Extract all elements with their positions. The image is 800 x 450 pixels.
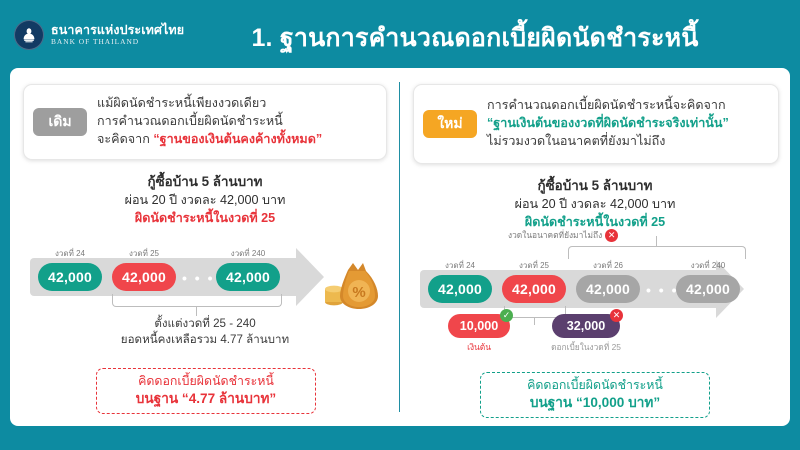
- statement-line-2-emphasis: “ฐานเงินต้นของงวดที่ผิดนัดชำระจริงเท่านั…: [487, 115, 729, 133]
- cross-mark-icon: ✕: [610, 309, 623, 322]
- installment-chip-240: 42,000: [676, 275, 740, 303]
- svg-text:%: %: [352, 284, 365, 301]
- statement-line-1: การคำนวณดอกเบี้ยผิดนัดชำระหนี้จะคิดจาก: [487, 97, 729, 115]
- future-range-brace-stem: [656, 236, 657, 246]
- future-installments-note: งวดในอนาคตที่ยังมาไม่ถึง ✕: [508, 228, 618, 242]
- statement-text-new: การคำนวณดอกเบี้ยผิดนัดชำระหนี้จะคิดจาก “…: [487, 97, 729, 151]
- statement-line-3: จะคิดจาก “ฐานของเงินต้นคงค้างทั้งหมด”: [97, 131, 322, 149]
- statement-line-1: แม้ผิดนัดชำระหนี้เพียงงวดเดียว: [97, 95, 322, 113]
- range-brace-old: [112, 294, 282, 307]
- future-range-brace: [568, 246, 746, 259]
- installment-chip-25: 42,000: [502, 275, 566, 303]
- loan-line-2: ผ่อน 20 ปี งวดละ 42,000 บาท: [10, 191, 400, 209]
- result-line-1: คิดดอกเบี้ยผิดนัดชำระหนี้: [138, 373, 274, 390]
- installment-chip-240: 42,000: [216, 263, 280, 291]
- outstanding-note-old: ตั้งแต่งวดที่ 25 - 240 ยอดหนี้คงเหลือรวม…: [10, 316, 400, 348]
- panel-new-rule: ใหม่ การคำนวณดอกเบี้ยผิดนัดชำระหนี้จะคิด…: [400, 68, 790, 426]
- panel-old-rule: เดิม แม้ผิดนัดชำระหนี้เพียงงวดเดียว การค…: [10, 68, 400, 426]
- loan-line-1: กู้ซื้อบ้าน 5 ล้านบาท: [400, 176, 790, 195]
- default-range-brace-stem: [534, 317, 535, 325]
- loan-line-2: ผ่อน 20 ปี งวดละ 42,000 บาท: [400, 195, 790, 213]
- statement-text-old: แม้ผิดนัดชำระหนี้เพียงงวดเดียว การคำนวณด…: [97, 95, 322, 149]
- installment-chip-24: 42,000: [38, 263, 102, 291]
- loan-summary-old: กู้ซื้อบ้าน 5 ล้านบาท ผ่อน 20 ปี งวดละ 4…: [10, 172, 400, 228]
- range-brace-stem-old: [196, 306, 197, 316]
- installment-label-240: งวดที่ 240: [206, 247, 290, 260]
- installment-label-26: งวดที่ 26: [570, 259, 646, 272]
- statement-box-new: ใหม่ การคำนวณดอกเบี้ยผิดนัดชำระหนี้จะคิด…: [413, 84, 779, 164]
- cross-mark-icon: ✕: [605, 229, 618, 242]
- installment-label-24: งวดที่ 24: [422, 259, 498, 272]
- statement-line-3-emphasis: “ฐานของเงินต้นคงค้างทั้งหมด”: [153, 132, 322, 146]
- installment-chip-24: 42,000: [428, 275, 492, 303]
- page-title: 1. ฐานการคำนวณดอกเบี้ยผิดนัดชำระหนี้: [0, 18, 800, 58]
- installment-label-25: งวดที่ 25: [496, 259, 572, 272]
- installment-label-25: งวดที่ 25: [106, 247, 182, 260]
- installment-label-240: งวดที่ 240: [666, 259, 750, 272]
- statement-line-2: การคำนวณดอกเบี้ยผิดนัดชำระหนี้: [97, 113, 322, 131]
- installment-label-24: งวดที่ 24: [32, 247, 108, 260]
- breakdown-label-interest: ดอกเบี้ยในงวดที่ 25: [530, 340, 642, 354]
- slide-root: ธนาคารแห่งประเทศไทย BANK OF THAILAND 1. …: [0, 0, 800, 450]
- badge-old: เดิม: [33, 108, 87, 136]
- content-card: เดิม แม้ผิดนัดชำระหนี้เพียงงวดเดียว การค…: [10, 68, 790, 426]
- statement-line-3: ไม่รวมงวดในอนาคตที่ยังมาไม่ถึง: [487, 133, 729, 151]
- result-box-old: คิดดอกเบี้ยผิดนัดชำระหนี้ บนฐาน “4.77 ล้…: [96, 368, 316, 414]
- result-line-2: บนฐาน “10,000 บาท”: [530, 394, 660, 413]
- loan-line-1: กู้ซื้อบ้าน 5 ล้านบาท: [10, 172, 400, 191]
- timeline-arrow-head: [296, 248, 324, 306]
- result-box-new: คิดดอกเบี้ยผิดนัดชำระหนี้ บนฐาน “10,000 …: [480, 372, 710, 418]
- check-mark-icon: ✓: [500, 309, 513, 322]
- installment-ellipsis: • • •: [646, 282, 678, 298]
- slide-header: ธนาคารแห่งประเทศไทย BANK OF THAILAND 1. …: [0, 0, 800, 66]
- loan-summary-new: กู้ซื้อบ้าน 5 ล้านบาท ผ่อน 20 ปี งวดละ 4…: [400, 176, 790, 232]
- installment-ellipsis: • • •: [182, 270, 214, 286]
- loan-line-3: ผิดนัดชำระหนี้ในงวดที่ 25: [10, 209, 400, 227]
- result-line-2: บนฐาน “4.77 ล้านบาท”: [136, 390, 276, 409]
- money-bag-percent-icon: %: [322, 258, 384, 319]
- breakdown-label-principal: เงินต้น: [440, 340, 518, 354]
- installment-chip-25: 42,000: [112, 263, 176, 291]
- future-installments-label: งวดในอนาคตที่ยังมาไม่ถึง: [508, 228, 602, 242]
- result-line-1: คิดดอกเบี้ยผิดนัดชำระหนี้: [527, 377, 663, 394]
- badge-new: ใหม่: [423, 110, 477, 138]
- statement-box-old: เดิม แม้ผิดนัดชำระหนี้เพียงงวดเดียว การค…: [23, 84, 387, 160]
- outstanding-note-line-1: ตั้งแต่งวดที่ 25 - 240: [10, 316, 400, 332]
- statement-line-3-prefix: จะคิดจาก: [97, 132, 153, 146]
- outstanding-note-line-2: ยอดหนี้คงเหลือรวม 4.77 ล้านบาท: [10, 332, 400, 348]
- installment-chip-26: 42,000: [576, 275, 640, 303]
